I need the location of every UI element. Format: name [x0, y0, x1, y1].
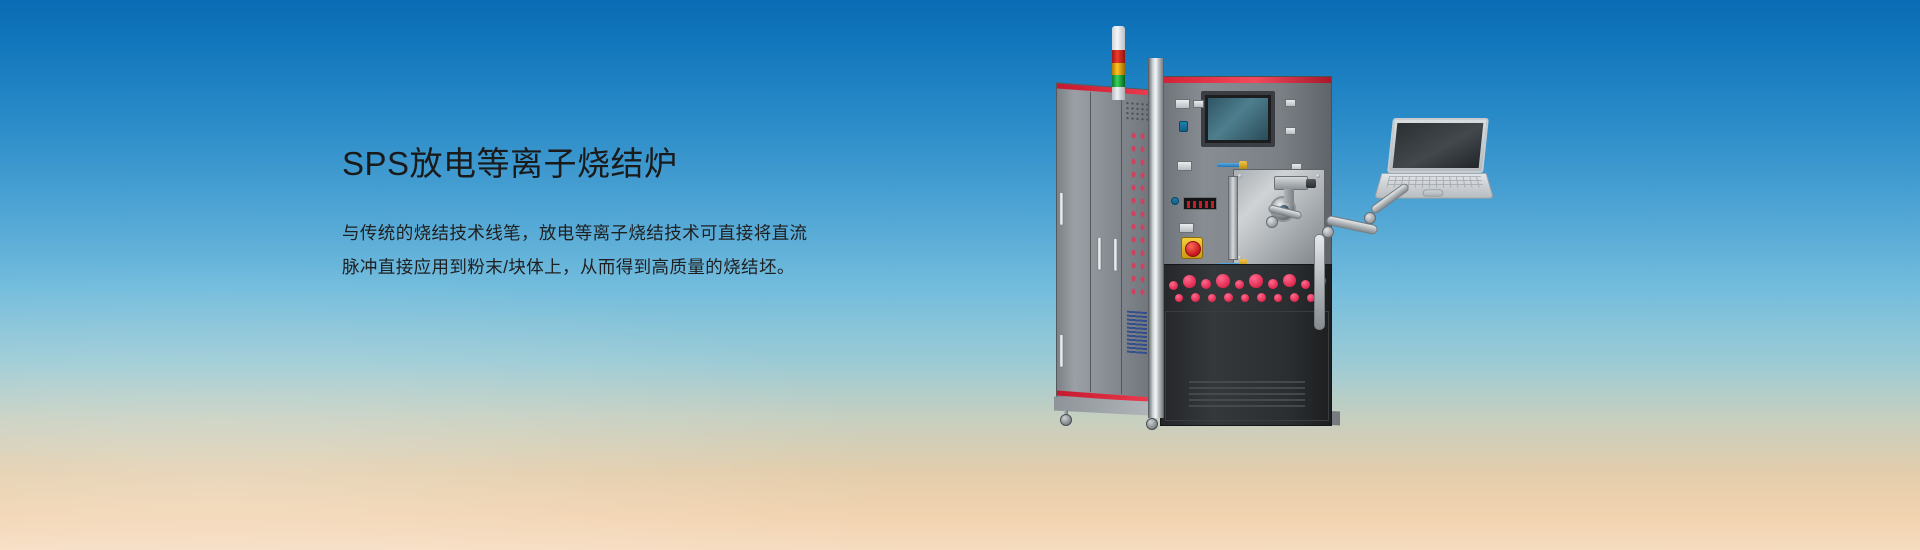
banner-copy: SPS放电等离子烧结炉 与传统的烧结技术线笔，放电等离子烧结技术可直接将直流 脉…: [342, 143, 902, 284]
signal-tower-light: [1112, 26, 1125, 100]
cabinet-handle: [1097, 236, 1102, 270]
camera-unit: [1274, 174, 1318, 194]
chamber-rail: [1228, 176, 1238, 260]
description-line-1: 与传统的烧结技术线笔，放电等离子烧结技术可直接将直流: [342, 216, 902, 250]
side-cabinet: [1056, 82, 1154, 409]
arm-column: [1314, 234, 1325, 330]
page-title: SPS放电等离子烧结炉: [342, 143, 902, 184]
lcd-glass: [1208, 98, 1268, 140]
cabinet-top-stripe: [1057, 83, 1153, 95]
cabinet-indicator-dots: [1129, 129, 1147, 300]
panel-indicator: [1171, 197, 1179, 205]
panel-switch: [1177, 161, 1192, 171]
camera-lens: [1306, 179, 1316, 188]
cabinet-seam: [1121, 94, 1122, 394]
camera-body: [1274, 176, 1308, 190]
emergency-stop-button: [1181, 237, 1203, 259]
tower-segment-red: [1112, 50, 1125, 63]
cabinet-label-strip: [1127, 311, 1147, 354]
cabinet-vent-grid: [1125, 100, 1149, 122]
hero-banner: SPS放电等离子烧结炉 与传统的烧结技术线笔，放电等离子烧结技术可直接将直流 脉…: [0, 0, 1920, 550]
product-image-sps-furnace: [1020, 18, 1660, 438]
panel-top-stripe: [1161, 77, 1331, 83]
cabinet-handle: [1059, 334, 1064, 368]
description-line-2: 脉冲直接应用到粉末/块体上，从而得到高质量的烧结坯。: [342, 250, 902, 284]
lower-chassis: [1160, 264, 1332, 426]
port-circle-array: [1167, 271, 1327, 305]
laptop-screen: [1387, 118, 1489, 173]
arm-joint: [1266, 216, 1278, 228]
tower-segment-green: [1112, 75, 1125, 87]
cabinet-handle: [1059, 192, 1064, 226]
monitor-arm-assembly: [1320, 116, 1550, 346]
tower-base: [1112, 87, 1125, 100]
panel-switch: [1285, 99, 1296, 107]
panel-switch: [1175, 99, 1190, 109]
cabinet-handle: [1113, 238, 1118, 272]
panel-knob: [1179, 121, 1188, 132]
laptop-trackpad: [1422, 189, 1443, 196]
panel-switch: [1179, 223, 1194, 233]
tower-segment-white: [1112, 26, 1125, 50]
digital-readout: [1183, 197, 1217, 210]
lower-vent-panel: [1189, 381, 1305, 409]
frame-post: [1148, 58, 1164, 418]
pipe-elbow: [1239, 161, 1247, 169]
camera-mount: [1284, 189, 1294, 203]
cabinet-seam: [1090, 92, 1091, 392]
tower-segment-yellow: [1112, 63, 1125, 75]
caster-wheel: [1060, 410, 1072, 426]
panel-switch: [1285, 127, 1296, 135]
chamber-bolt: [1238, 174, 1242, 178]
panel-switch: [1193, 100, 1204, 108]
banner-description: 与传统的烧结技术线笔，放电等离子烧结技术可直接将直流 脉冲直接应用到粉末/块体上…: [342, 216, 902, 284]
control-lcd: [1201, 91, 1275, 147]
